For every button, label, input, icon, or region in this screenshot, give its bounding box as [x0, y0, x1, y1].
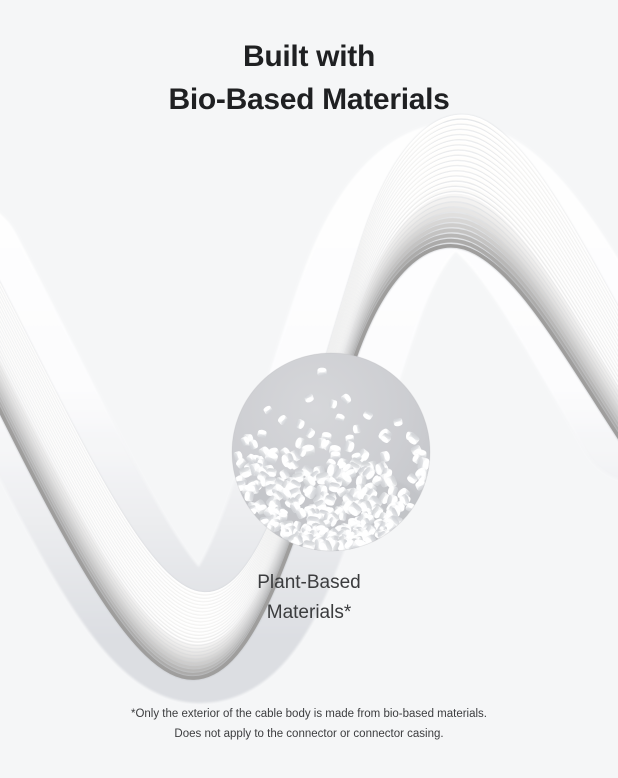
footnote-line-2: Does not apply to the connector or conne… [0, 725, 618, 745]
page-title: Built with Bio-Based Materials [0, 36, 618, 121]
caption-line-2: Materials* [0, 598, 618, 628]
headline-line-1: Built with [0, 36, 618, 79]
caption-line-1: Plant-Based [0, 568, 618, 598]
headline-line-2: Bio-Based Materials [0, 79, 618, 122]
promo-panel: Built with Bio-Based Materials Plant-Bas… [0, 0, 618, 778]
pellet-caption: Plant-Based Materials* [0, 568, 618, 628]
disclaimer: *Only the exterior of the cable body is … [0, 705, 618, 745]
footnote-line-1: *Only the exterior of the cable body is … [0, 705, 618, 725]
